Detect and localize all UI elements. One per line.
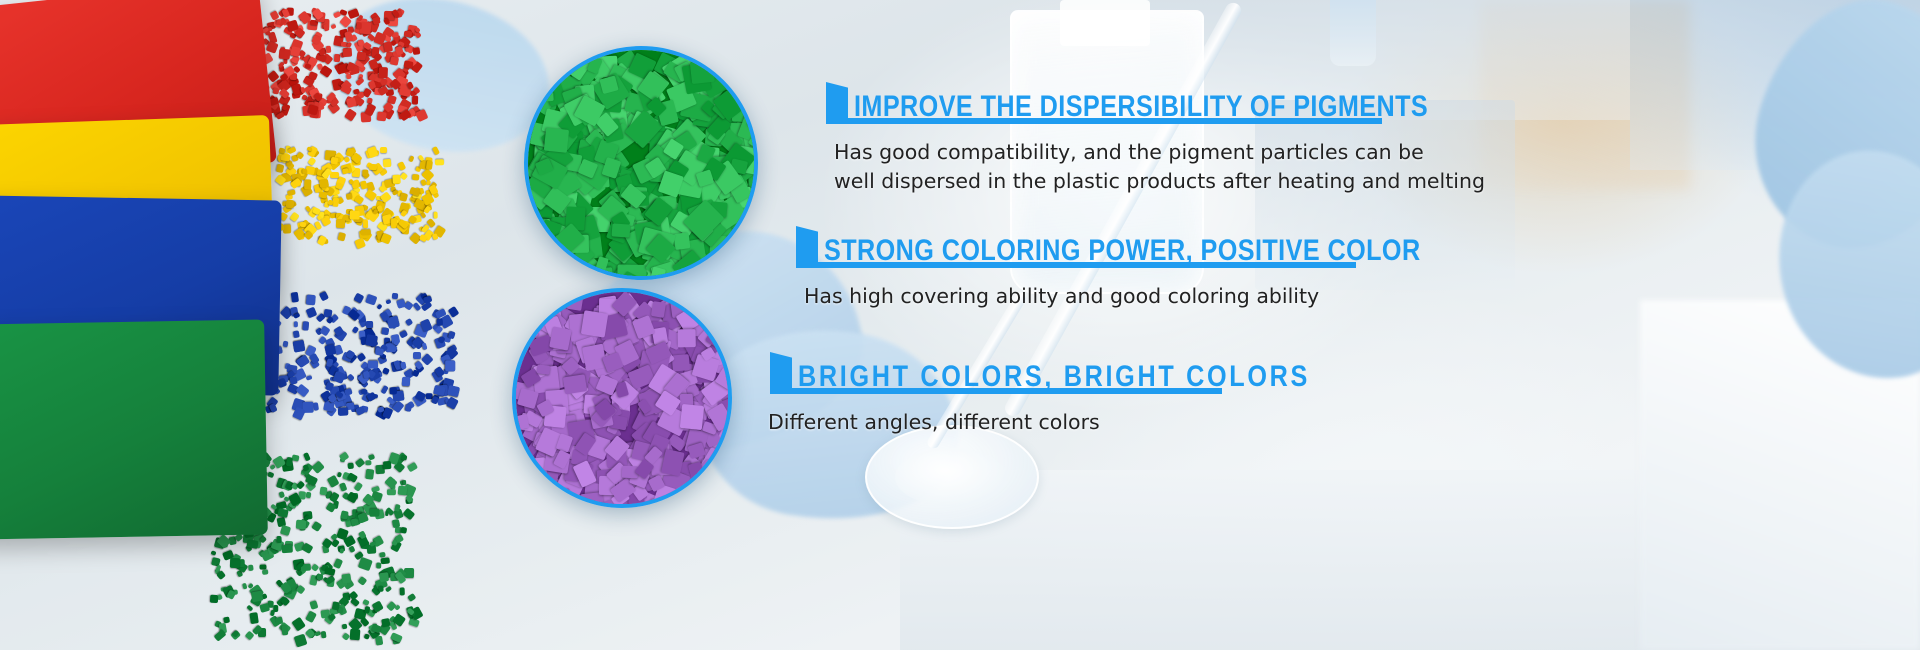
feature-coloring-power-body: Has high covering ability and good color… (804, 282, 1464, 311)
accent-marker-icon (826, 82, 854, 122)
feature-coloring-power: STRONG COLORING POWER, POSITIVE COLOR Ha… (796, 226, 1534, 266)
feature-dispersibility-body: Has good compatibility, and the pigment … (834, 138, 1494, 196)
feature-bright-colors-body-line1: Different angles, different colors (768, 408, 1428, 437)
feature-coloring-power-heading-row: STRONG COLORING POWER, POSITIVE COLOR (796, 226, 1534, 266)
feature-coloring-power-body-line1: Has high covering ability and good color… (804, 282, 1464, 311)
feature-bright-colors-heading-row: BRIGHT COLORS, BRIGHT COLORS (770, 352, 1408, 392)
feature-list: IMPROVE THE DISPERSIBILITY OF PIGMENTS H… (0, 0, 1920, 650)
feature-bright-colors-body: Different angles, different colors (768, 408, 1428, 437)
accent-marker-icon (796, 226, 824, 266)
feature-dispersibility-body-line2: well dispersed in the plastic products a… (834, 167, 1494, 196)
banner-root: IMPROVE THE DISPERSIBILITY OF PIGMENTS H… (0, 0, 1920, 650)
feature-dispersibility: IMPROVE THE DISPERSIBILITY OF PIGMENTS H… (826, 82, 1538, 122)
feature-dispersibility-underline (826, 118, 1382, 124)
accent-marker-icon (770, 352, 798, 392)
feature-bright-colors: BRIGHT COLORS, BRIGHT COLORS Different a… (770, 352, 1408, 392)
feature-dispersibility-body-line1: Has good compatibility, and the pigment … (834, 138, 1494, 167)
feature-bright-colors-underline (770, 388, 1222, 394)
feature-dispersibility-heading-row: IMPROVE THE DISPERSIBILITY OF PIGMENTS (826, 82, 1538, 122)
feature-coloring-power-underline (796, 262, 1356, 268)
